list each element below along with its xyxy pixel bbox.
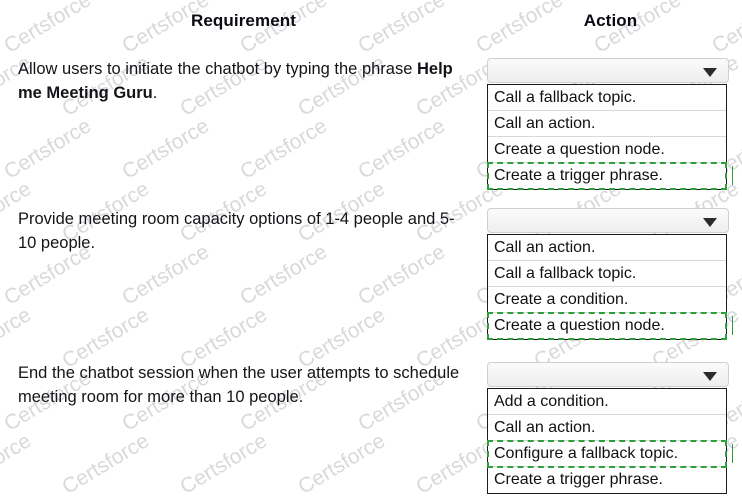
dropdown-option-list: Call a fallback topic.Call an action.Cre… [487,84,727,190]
watermark-text: Certsforce [176,418,290,496]
watermark-text: Certsforce [58,418,172,496]
column-header-action: Action [487,11,734,31]
dropdown-option[interactable]: Call an action. [488,111,726,137]
watermark-text: Certsforce [354,481,468,496]
dropdown-option[interactable]: Create a question node. [488,137,726,163]
dropdown-option[interactable]: Create a condition. [488,287,726,313]
dropdown-option[interactable]: Call an action. [488,415,726,441]
watermark-text: Certsforce [118,103,232,184]
action-dropdown-1[interactable] [487,58,729,83]
watermark-text: Certsforce [294,418,408,496]
chevron-down-icon[interactable] [703,372,717,381]
requirement-text-suffix: . [153,84,158,102]
dropdown-option[interactable]: Configure a fallback topic. [488,441,726,467]
requirement-text: End the chatbot session when the user at… [18,361,468,409]
requirement-text-prefix: End the chatbot session when the user at… [18,364,459,406]
watermark-text: Certsforce [0,103,114,184]
watermark-text: Certsforce [236,103,350,184]
requirement-text: Allow users to initiate the chatbot by t… [18,57,468,105]
watermark-text: Certsforce [354,103,468,184]
question-page: CertsforceCertsforceCertsforceCertsforce… [0,0,742,496]
watermark-text: Certsforce [236,481,350,496]
watermark-text: Certsforce [118,481,232,496]
dropdown-option[interactable]: Call a fallback topic. [488,85,726,111]
dropdown-option[interactable]: Create a trigger phrase. [488,467,726,493]
column-header-row: Requirement Action [0,11,742,41]
chevron-down-icon[interactable] [703,68,717,77]
dropdown-option[interactable]: Call a fallback topic. [488,261,726,287]
watermark-text: Certsforce [0,418,54,496]
action-dropdown-2[interactable] [487,208,729,233]
requirement-text: Provide meeting room capacity options of… [18,207,468,255]
action-dropdown-3[interactable] [487,362,729,387]
watermark-text: Certsforce [0,481,114,496]
dropdown-option-list: Call an action.Call a fallback topic.Cre… [487,234,727,340]
dropdown-option[interactable]: Call an action. [488,235,726,261]
column-header-requirement: Requirement [0,11,487,31]
dropdown-option[interactable]: Create a trigger phrase. [488,163,726,189]
requirement-text-prefix: Provide meeting room capacity options of… [18,210,455,252]
dropdown-option[interactable]: Create a question node. [488,313,726,339]
dropdown-option[interactable]: Add a condition. [488,389,726,415]
chevron-down-icon[interactable] [703,218,717,227]
watermark-row: CertsforceCertsforceCertsforceCertsforce… [0,0,742,6]
requirement-text-prefix: Allow users to initiate the chatbot by t… [18,60,417,78]
dropdown-option-list: Add a condition.Call an action.Configure… [487,388,727,494]
